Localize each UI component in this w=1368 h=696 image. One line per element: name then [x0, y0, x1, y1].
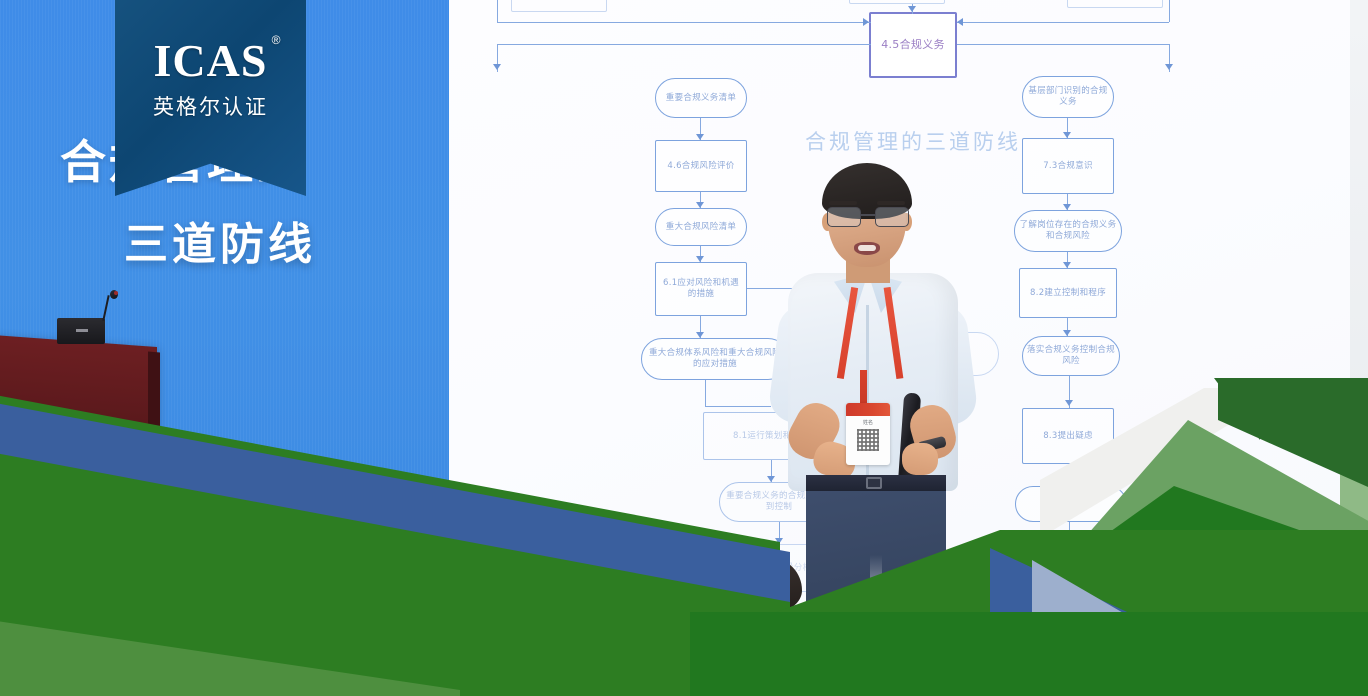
badge-name-text: 姓名 [846, 419, 890, 426]
glasses-icon [824, 207, 912, 227]
presentation-photo: 合规管理的 三道防线 ICAS ® 英格尔认证 合规管理的三道防线 4.5合规义… [0, 0, 1368, 696]
presenter-right-hand [902, 443, 938, 475]
registered-trademark-icon: ® [272, 34, 282, 46]
presenter: 姓名 [770, 155, 985, 615]
overlay-bottom-green-block [690, 612, 1368, 696]
badge-header-band [846, 403, 890, 416]
presenter-eyebrow-left [829, 201, 857, 205]
icas-subtitle: 英格尔认证 [153, 91, 268, 121]
glasses-bridge [861, 214, 875, 216]
glasses-lens-left [827, 207, 861, 227]
wall-headline-secondary: 三道防线 [124, 208, 316, 272]
microphone-led-icon [114, 291, 118, 295]
presenter-teeth [858, 245, 876, 251]
podium-control-led-icon [76, 329, 88, 332]
glasses-lens-right [875, 207, 909, 227]
conference-badge: 姓名 [846, 403, 890, 465]
icas-wordmark: ICAS ® [154, 38, 268, 84]
belt-buckle-icon [866, 477, 882, 489]
qr-code-icon [857, 429, 879, 451]
presenter-eyebrow-right [877, 201, 905, 205]
icas-wordmark-text: ICAS [154, 35, 268, 86]
